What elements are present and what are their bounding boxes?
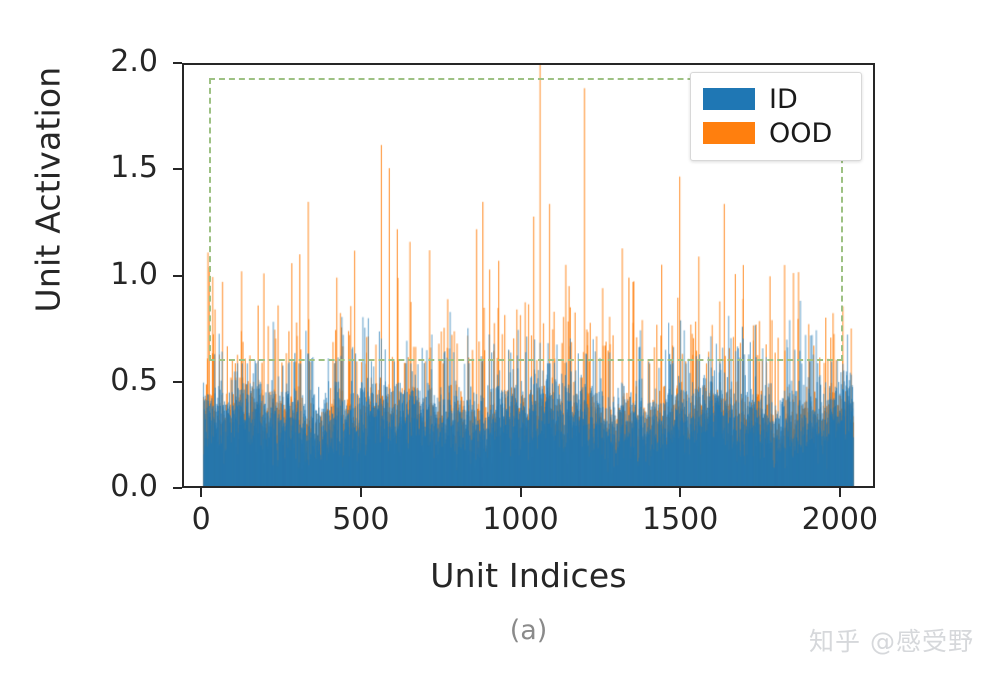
figure-canvas: Unit Activation Unit Indices (a) ID OOD … — [0, 0, 988, 677]
x-tick-label: 1500 — [642, 503, 718, 537]
legend-label-id: ID — [769, 86, 798, 113]
legend-swatch-ood — [703, 122, 755, 144]
y-tick-label: 0.0 — [8, 472, 158, 502]
figure-caption: (a) — [182, 615, 875, 646]
y-tick-mark — [173, 487, 182, 489]
x-tick-mark — [200, 488, 202, 497]
x-tick-mark — [360, 488, 362, 497]
x-tick-label: 0 — [192, 503, 211, 537]
x-tick-mark — [839, 488, 841, 497]
x-tick-label: 1000 — [482, 503, 558, 537]
y-tick-label: 1.0 — [8, 260, 158, 290]
y-tick-label: 1.5 — [8, 153, 158, 183]
legend-label-ood: OOD — [769, 120, 832, 147]
x-tick-label: 500 — [332, 503, 389, 537]
x-tick-mark — [679, 488, 681, 497]
y-tick-mark — [173, 275, 182, 277]
legend-entry-id: ID — [703, 82, 849, 116]
legend-swatch-id — [703, 88, 755, 110]
y-tick-mark — [173, 381, 182, 383]
x-tick-mark — [520, 488, 522, 497]
y-tick-label: 0.5 — [8, 366, 158, 396]
legend-entry-ood: OOD — [703, 116, 849, 150]
y-tick-mark — [173, 168, 182, 170]
x-tick-label: 2000 — [802, 503, 878, 537]
y-tick-label: 2.0 — [8, 47, 158, 77]
chart-legend: ID OOD — [690, 72, 862, 161]
x-axis-label: Unit Indices — [182, 556, 875, 595]
y-tick-mark — [173, 62, 182, 64]
watermark: 知乎 @感受野 — [809, 622, 974, 658]
